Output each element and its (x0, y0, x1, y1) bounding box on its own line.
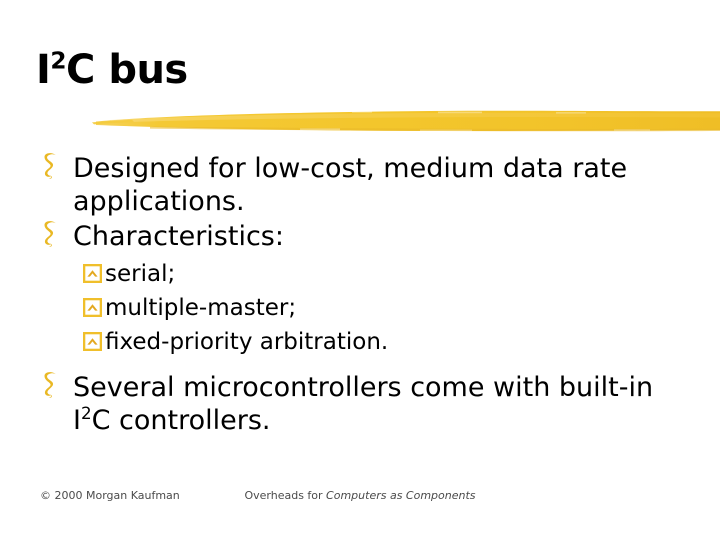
bullet-text-3-superscript: 2 (81, 403, 92, 423)
sub-bullet-text-2: multiple-master; (105, 295, 296, 321)
bullet-text-2: Characteristics: (73, 221, 284, 252)
footer-source-prefix: Overheads for (244, 489, 326, 502)
sub-bullet-item-1: serial; (34, 257, 690, 291)
zeta-bullet-icon (38, 151, 64, 181)
zeta-bullet-icon (38, 370, 64, 400)
box-chevron-bullet-icon (83, 264, 102, 283)
footer-copyright: © 2000 Morgan Kaufman (40, 488, 220, 503)
sub-bullet-item-3: fixed-priority arbitration. (34, 325, 690, 359)
bullet-item-3: Several microcontrollers come with built… (34, 371, 690, 437)
bullet-text-1: Designed for low-cost, medium data rate … (73, 153, 627, 217)
bullet-text-3-after: C controllers. (92, 405, 271, 436)
sub-bullet-group: serial; multiple-master; (34, 257, 690, 359)
bullet-item-1: Designed for low-cost, medium data rate … (34, 152, 690, 218)
brush-stroke-icon (0, 100, 720, 142)
slide-canvas: I2C bus (0, 0, 720, 540)
sub-bullet-text-1: serial; (105, 261, 175, 287)
footer-source: Overheads for Computers as Components (215, 488, 505, 503)
box-chevron-bullet-icon (83, 298, 102, 317)
box-chevron-bullet-icon (83, 332, 102, 351)
title-suffix: C bus (66, 47, 188, 93)
zeta-bullet-icon (38, 219, 64, 249)
slide-title: I2C bus (36, 48, 188, 92)
yellow-brush-stroke (0, 100, 720, 142)
slide-footer: © 2000 Morgan Kaufman Overheads for Comp… (0, 486, 720, 540)
bullet-text-3: Several microcontrollers come with built… (73, 372, 653, 436)
title-prefix: I (36, 47, 50, 93)
footer-source-title: Computers as Components (326, 489, 475, 502)
bullet-item-2: Characteristics: (34, 220, 690, 253)
sub-bullet-text-3: fixed-priority arbitration. (105, 329, 388, 355)
slide-body: Designed for low-cost, medium data rate … (34, 152, 690, 439)
sub-bullet-item-2: multiple-master; (34, 291, 690, 325)
title-superscript: 2 (50, 48, 66, 75)
